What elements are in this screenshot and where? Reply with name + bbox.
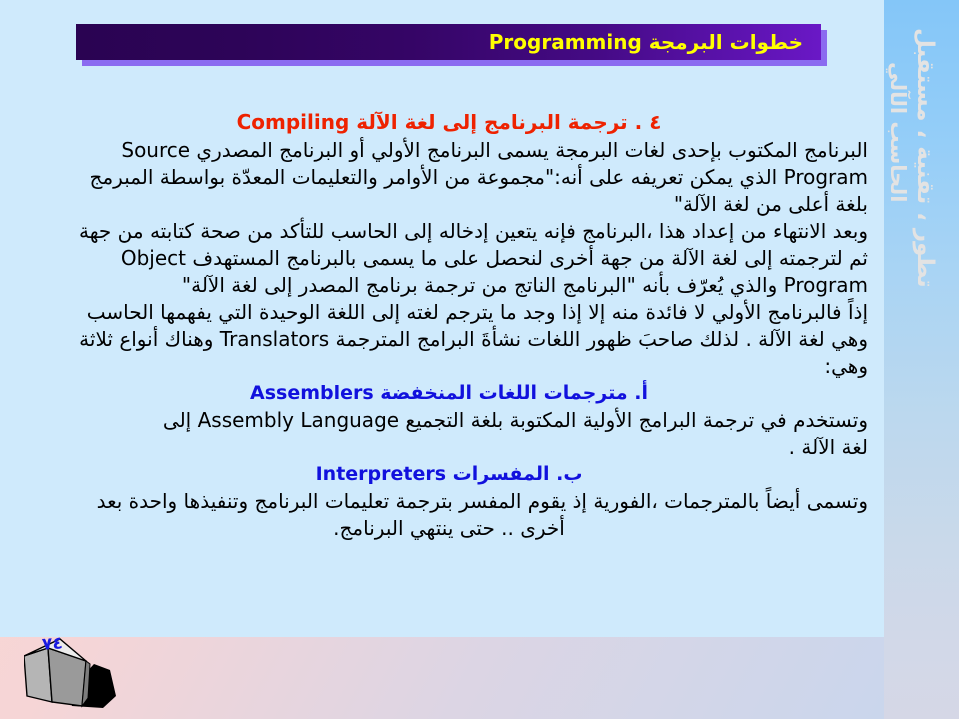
paragraph-1-line-1: البرنامج المكتوب بإحدى لغات البرمجة يسمى… — [30, 137, 868, 164]
heading-compiling: ٤ . ترجمة البرنامج إلى لغة الآلة Compili… — [30, 108, 868, 136]
presentation-slide: تطور ، تقنية ، مستقبل الحاسب الآلي خطوات… — [0, 0, 959, 719]
paragraph-2-line-2: ثم لترجمته إلى لغة الآلة من جهة أخرى لنح… — [30, 245, 868, 272]
paragraph-3-line-3: وهي: — [30, 353, 868, 380]
paragraph-5-line-2: أخرى .. حتى ينتهي البرنامج. — [30, 515, 868, 542]
title-bar: خطوات البرمجة Programming — [76, 24, 821, 60]
sidebar-vertical-text: تطور ، تقنية ، مستقبل الحاسب الآلي — [884, 0, 959, 719]
slide-title: خطوات البرمجة Programming — [489, 30, 803, 54]
paragraph-5-line-1: وتسمى أيضاً بالمترجمات ،الفورية إذ يقوم … — [30, 488, 868, 515]
slide-body: ٤ . ترجمة البرنامج إلى لغة الآلة Compili… — [30, 108, 868, 542]
paragraph-2-line-1: وبعد الانتهاء من إعداد هذا ،البرنامج فإن… — [30, 218, 868, 245]
sidebar-text-line-1: تطور ، تقنية ، مستقبل — [912, 28, 938, 288]
paragraph-3-line-1: إذاً فالبرنامج الأولي لا فائدة منه إلا إ… — [30, 299, 868, 326]
paragraph-1-line-3: بلغة أعلى من لغة الآلة" — [30, 191, 868, 218]
page-number: ٧٤ — [41, 633, 63, 654]
paragraph-3-line-2: وهي لغة الآلة . لذلك صاحبَ ظهور اللغات ن… — [30, 326, 868, 353]
paragraph-4-line-2: لغة الآلة . — [30, 434, 868, 461]
paragraph-1-line-2: Program الذي يمكن تعريفه على أنه:"مجموعة… — [30, 164, 868, 191]
heading-interpreters: ب. المفسرات Interpreters — [30, 461, 868, 488]
sidebar-text-line-2: الحاسب الآلي — [886, 62, 910, 202]
paragraph-4-line-1: وتستخدم في ترجمة البرامج الأولية المكتوب… — [30, 407, 868, 434]
heading-assemblers: أ. مترجمات اللغات المنخفضة Assemblers — [30, 380, 868, 407]
paragraph-2-line-3: Program والذي يُعرّف بأنه "البرنامج النا… — [30, 272, 868, 299]
